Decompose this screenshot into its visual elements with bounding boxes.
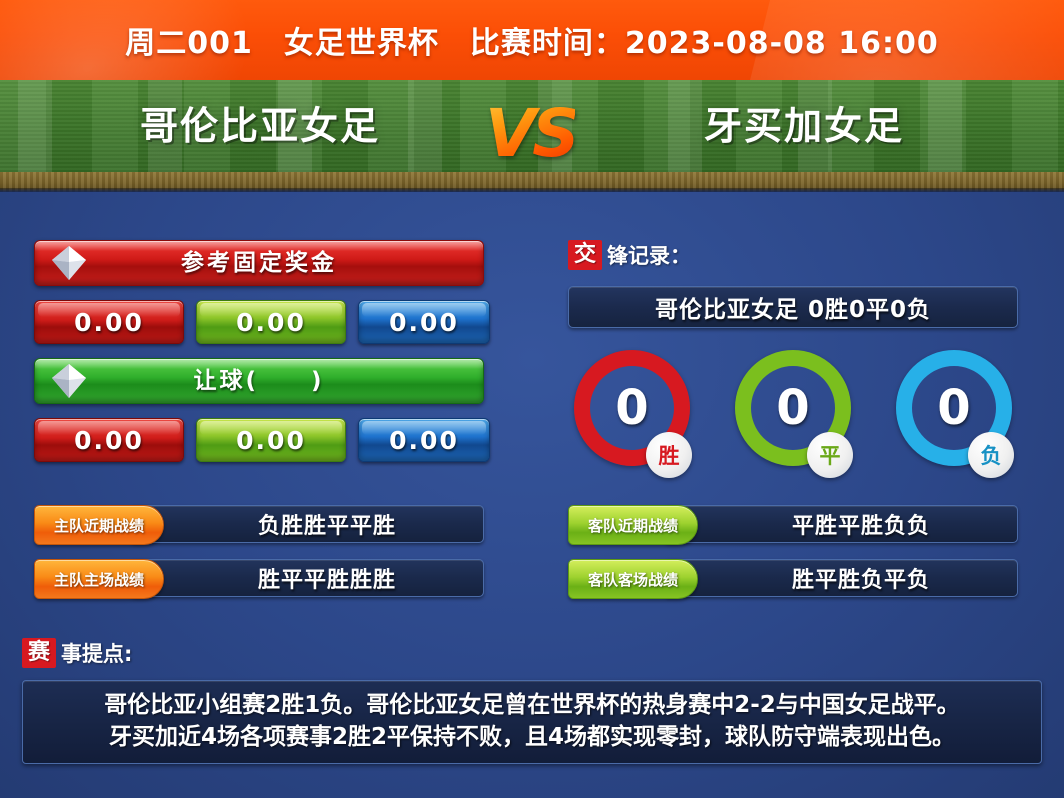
home-venue-form-value: 胜平平胜胜胜	[130, 559, 484, 597]
ring-draw-label: 平	[807, 432, 853, 478]
notes-tag: 赛	[22, 638, 56, 668]
handicap-title: 让球( )	[35, 359, 483, 403]
header-title: 周二001 女足世界杯 比赛时间：2023-08-08 16:00	[0, 0, 1064, 80]
home-team-name: 哥伦比亚女足	[70, 95, 450, 157]
h2h-summary: 哥伦比亚女足 0胜0平0负	[568, 286, 1018, 328]
ring-loss: 0 负	[896, 350, 1012, 476]
odds-away-win[interactable]: 0.00	[358, 300, 490, 344]
away-venue-form-row: 客队客场战绩 胜平胜负平负	[568, 559, 1018, 597]
home-recent-form-value: 负胜胜平平胜	[130, 505, 484, 543]
match-notes: 赛事提点: 哥伦比亚小组赛2胜1负。哥伦比亚女足曾在世界杯的热身赛中2-2与中国…	[22, 638, 1042, 764]
head-to-head-panel: 交锋记录： 哥伦比亚女足 0胜0平0负 0 胜 0 平 0 负	[568, 240, 1018, 476]
ring-win-label: 胜	[646, 432, 692, 478]
away-venue-form-value: 胜平胜负平负	[664, 559, 1018, 597]
vs-icon: VS	[485, 88, 575, 188]
odds-draw[interactable]: 0.00	[196, 300, 346, 344]
away-recent-form-value: 平胜平胜负负	[664, 505, 1018, 543]
home-recent-form-row: 主队近期战绩 负胜胜平平胜	[34, 505, 484, 543]
handicap-home-win[interactable]: 0.00	[34, 418, 184, 462]
away-team-name: 牙买加女足	[614, 95, 994, 157]
handicap-odds-row: 0.00 0.00 0.00	[34, 418, 484, 462]
home-form-block: 主队近期战绩 负胜胜平平胜 主队主场战绩 胜平平胜胜胜	[34, 505, 484, 613]
h2h-tag: 交	[568, 240, 602, 270]
h2h-title: 锋记录：	[607, 244, 691, 268]
home-venue-form-row: 主队主场战绩 胜平平胜胜胜	[34, 559, 484, 597]
fixed-prize-title: 参考固定奖金	[35, 241, 483, 285]
odds-panel: 参考固定奖金 0.00 0.00 0.00 让球( ) 0.00 0.00 0.…	[34, 240, 484, 476]
h2h-rings: 0 胜 0 平 0 负	[574, 350, 1012, 476]
notes-panel: 哥伦比亚小组赛2胜1负。哥伦比亚女足曾在世界杯的热身赛中2-2与中国女足战平。 …	[22, 680, 1042, 764]
h2h-heading: 交锋记录：	[568, 240, 1018, 274]
handicap-title-bar: 让球( )	[34, 358, 484, 404]
away-form-block: 客队近期战绩 平胜平胜负负 客队客场战绩 胜平胜负平负	[568, 505, 1018, 613]
notes-line-1: 哥伦比亚小组赛2胜1负。哥伦比亚女足曾在世界杯的热身赛中2-2与中国女足战平。	[37, 689, 1027, 721]
notes-line-2: 牙买加近4场各项赛事2胜2平保持不败，且4场都实现零封，球队防守端表现出色。	[37, 721, 1027, 753]
away-recent-form-row: 客队近期战绩 平胜平胜负负	[568, 505, 1018, 543]
home-recent-form-label: 主队近期战绩	[34, 505, 164, 545]
ring-draw: 0 平	[735, 350, 851, 476]
odds-home-win[interactable]: 0.00	[34, 300, 184, 344]
fixed-prize-title-bar: 参考固定奖金	[34, 240, 484, 286]
header-banner: 周二001 女足世界杯 比赛时间：2023-08-08 16:00	[0, 0, 1064, 80]
home-venue-form-label: 主队主场战绩	[34, 559, 164, 599]
away-recent-form-label: 客队近期战绩	[568, 505, 698, 545]
notes-heading: 赛事提点:	[22, 638, 1042, 674]
notes-title: 事提点:	[61, 642, 132, 666]
away-venue-form-label: 客队客场战绩	[568, 559, 698, 599]
handicap-away-win[interactable]: 0.00	[358, 418, 490, 462]
match-preview-card: 周二001 女足世界杯 比赛时间：2023-08-08 16:00 哥伦比亚女足…	[0, 0, 1064, 798]
handicap-draw[interactable]: 0.00	[196, 418, 346, 462]
fixed-odds-row: 0.00 0.00 0.00	[34, 300, 484, 344]
ring-loss-label: 负	[968, 432, 1014, 478]
ring-win: 0 胜	[574, 350, 690, 476]
